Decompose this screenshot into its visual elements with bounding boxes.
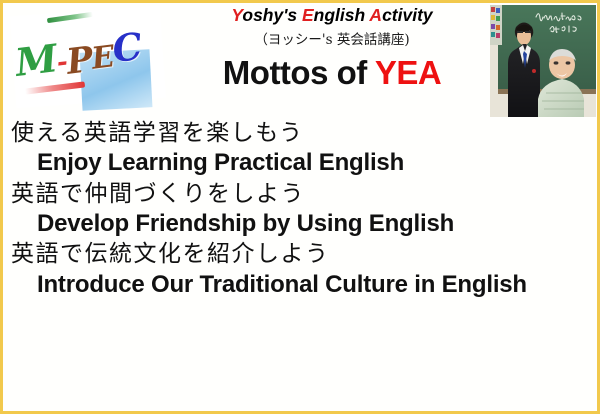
subtitle-initial-e: E bbox=[302, 5, 314, 25]
classroom-photo bbox=[490, 5, 596, 117]
slide-header: M-PEC Yoshy's English Activity （ヨッシー's 英… bbox=[3, 3, 597, 115]
subtitle-word-nglish: nglish bbox=[314, 5, 370, 25]
subtitle-english: Yoshy's English Activity bbox=[179, 5, 485, 26]
subtitle-japanese: （ヨッシー's 英会話講座) bbox=[179, 28, 485, 48]
motto-item: 英語で伝統文化を紹介しよう Introduce Our Traditional … bbox=[11, 240, 591, 300]
page-title: Mottos of YEA bbox=[179, 54, 485, 92]
logo-letter-c: C bbox=[110, 24, 144, 71]
classroom-photo-image bbox=[490, 5, 596, 117]
motto-japanese: 英語で伝統文化を紹介しよう bbox=[11, 240, 591, 269]
subtitle-word-ctivity: ctivity bbox=[382, 5, 433, 25]
logo-letter-m: M bbox=[13, 35, 59, 85]
subtitle-initial-y: Y bbox=[231, 5, 242, 25]
motto-item: 使える英語学習を楽しもう Enjoy Learning Practical En… bbox=[11, 119, 591, 179]
page-title-accent: YEA bbox=[375, 54, 441, 91]
motto-japanese: 使える英語学習を楽しもう bbox=[11, 119, 591, 148]
title-block: Yoshy's English Activity （ヨッシー's 英会話講座) … bbox=[179, 5, 485, 92]
subtitle-initial-a: A bbox=[369, 5, 382, 25]
motto-english: Develop Friendship by Using English bbox=[11, 209, 591, 239]
motto-english: Enjoy Learning Practical English bbox=[11, 148, 591, 178]
motto-item: 英語で仲間づくりをしよう Develop Friendship by Using… bbox=[11, 180, 591, 240]
slide-mottos-of-yea: M-PEC Yoshy's English Activity （ヨッシー's 英… bbox=[0, 0, 600, 414]
motto-japanese: 英語で仲間づくりをしよう bbox=[11, 180, 591, 209]
mpec-logo: M-PEC bbox=[7, 5, 175, 113]
mottos-list: 使える英語学習を楽しもう Enjoy Learning Practical En… bbox=[3, 115, 597, 411]
page-title-main: Mottos of bbox=[223, 54, 375, 91]
subtitle-word-oshys: oshy's bbox=[242, 5, 302, 25]
motto-english: Introduce Our Traditional Culture in Eng… bbox=[11, 270, 591, 300]
